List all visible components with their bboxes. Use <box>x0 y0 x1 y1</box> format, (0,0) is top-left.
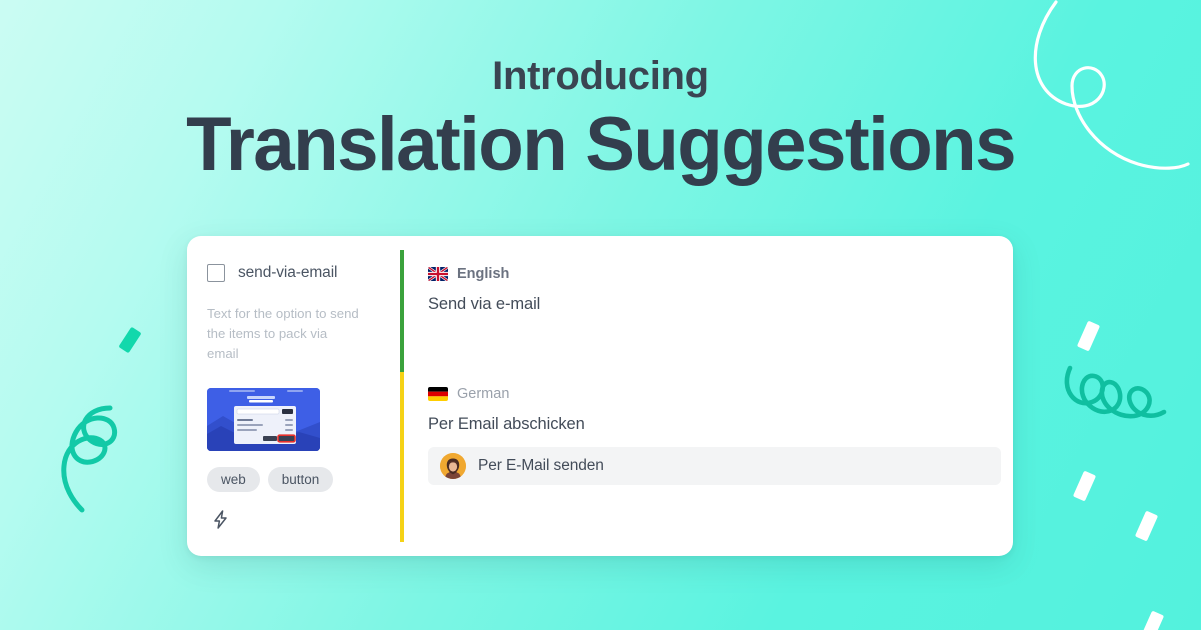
eyebrow-text: Introducing <box>0 54 1201 98</box>
key-tags: web button <box>207 467 400 492</box>
language-name: German <box>457 386 509 402</box>
language-header-german: German <box>428 386 989 402</box>
tag-chip[interactable]: button <box>268 467 334 492</box>
swirl-right-icon <box>1062 360 1182 430</box>
lightning-bolt-icon[interactable] <box>213 510 228 534</box>
confetti-teal <box>118 327 141 354</box>
translation-english: English Send via e-mail <box>428 266 989 314</box>
key-header-row: send-via-email <box>207 264 400 282</box>
screenshot-image <box>207 388 320 451</box>
key-details-pane: send-via-email Text for the option to se… <box>187 236 400 556</box>
key-description: Text for the option to send the items to… <box>207 304 359 364</box>
language-status-bars <box>400 250 404 542</box>
confetti-white <box>1073 471 1096 502</box>
key-select-checkbox[interactable] <box>207 264 225 282</box>
swirl-bottom-left-icon <box>52 398 162 528</box>
page-title: Translation Suggestions <box>12 104 1189 186</box>
key-screenshot-thumbnail[interactable] <box>207 388 320 451</box>
confetti-white <box>1141 611 1164 630</box>
translation-german: German Per Email abschicken Per E-Mail s… <box>428 386 989 485</box>
tag-chip[interactable]: web <box>207 467 260 492</box>
status-bar-german <box>400 372 404 542</box>
flag-germany-icon <box>428 387 448 401</box>
user-avatar <box>440 453 466 479</box>
status-bar-english <box>400 250 404 372</box>
language-name: English <box>457 266 509 282</box>
translation-suggestion-row[interactable]: Per E-Mail senden <box>428 447 1001 485</box>
flag-uk-icon <box>428 267 448 281</box>
suggestion-text: Per E-Mail senden <box>478 457 604 475</box>
confetti-white <box>1135 511 1158 542</box>
page-header: Introducing Translation Suggestions <box>0 54 1201 186</box>
translation-text-english[interactable]: Send via e-mail <box>428 295 989 314</box>
translations-pane: English Send via e-mail German Per Email… <box>400 236 1013 556</box>
confetti-white <box>1077 321 1100 352</box>
translation-text-german[interactable]: Per Email abschicken <box>428 415 989 434</box>
translation-key-card: send-via-email Text for the option to se… <box>187 236 1013 556</box>
language-header-english: English <box>428 266 989 282</box>
key-name-label: send-via-email <box>238 264 337 282</box>
